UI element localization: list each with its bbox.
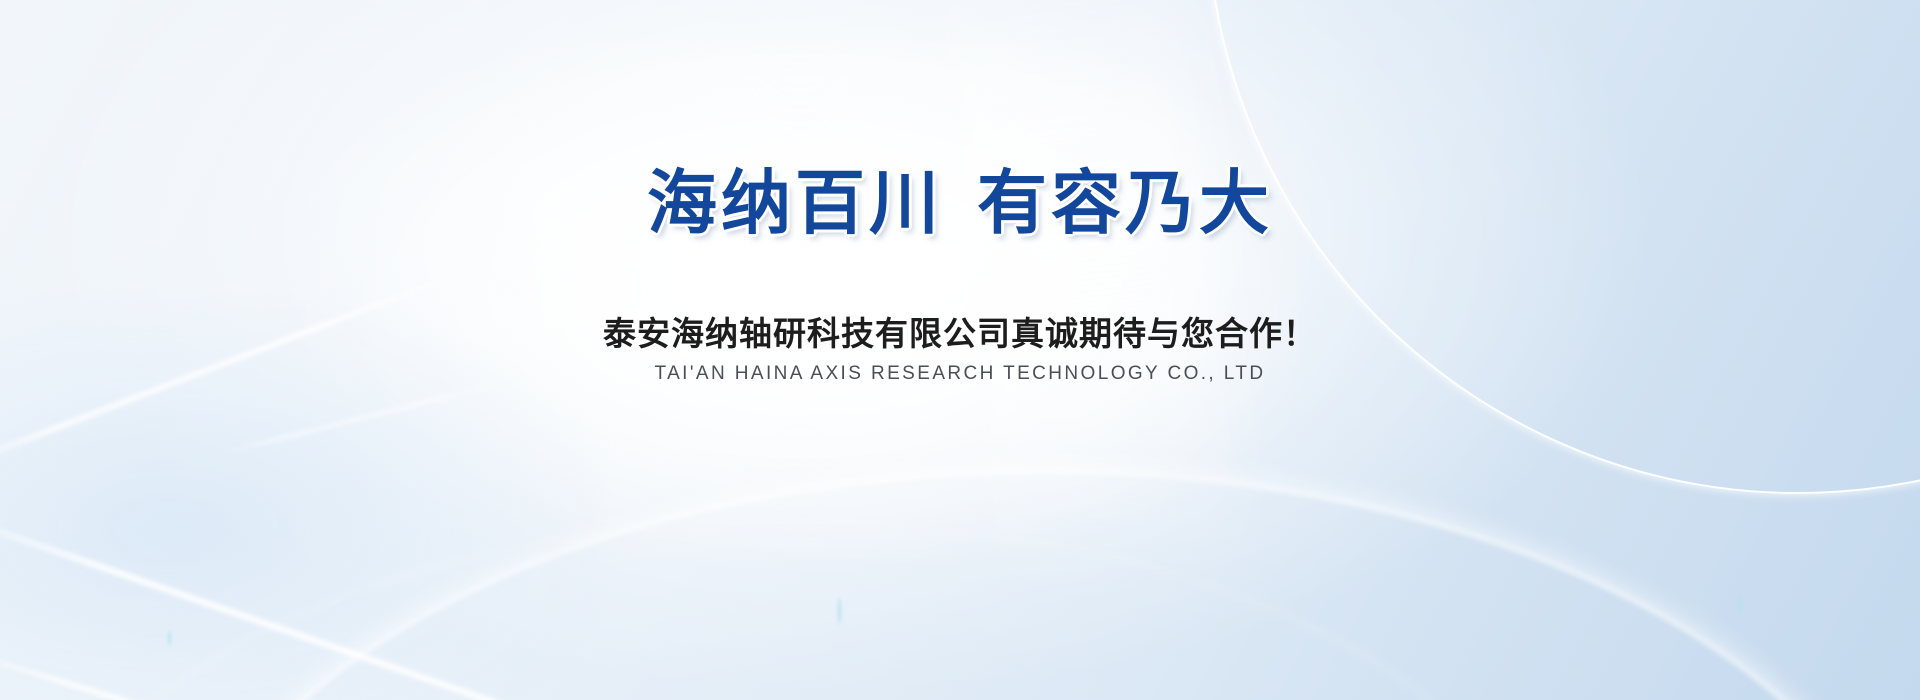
- banner-subtitle-chinese: 泰安海纳轴研科技有限公司真诚期待与您合作！: [0, 313, 1920, 354]
- banner-headline: 海纳百川有容乃大: [0, 168, 1920, 238]
- hero-banner: 海纳百川有容乃大 泰安海纳轴研科技有限公司真诚期待与您合作！ TAI'AN HA…: [0, 0, 1920, 700]
- banner-content: 海纳百川有容乃大 泰安海纳轴研科技有限公司真诚期待与您合作！ TAI'AN HA…: [0, 0, 1920, 700]
- headline-part-two: 有容乃大: [977, 164, 1273, 242]
- banner-subtitle-english: TAI'AN HAINA AXIS RESEARCH TECHNOLOGY CO…: [0, 362, 1920, 387]
- headline-part-one: 海纳百川: [647, 164, 943, 242]
